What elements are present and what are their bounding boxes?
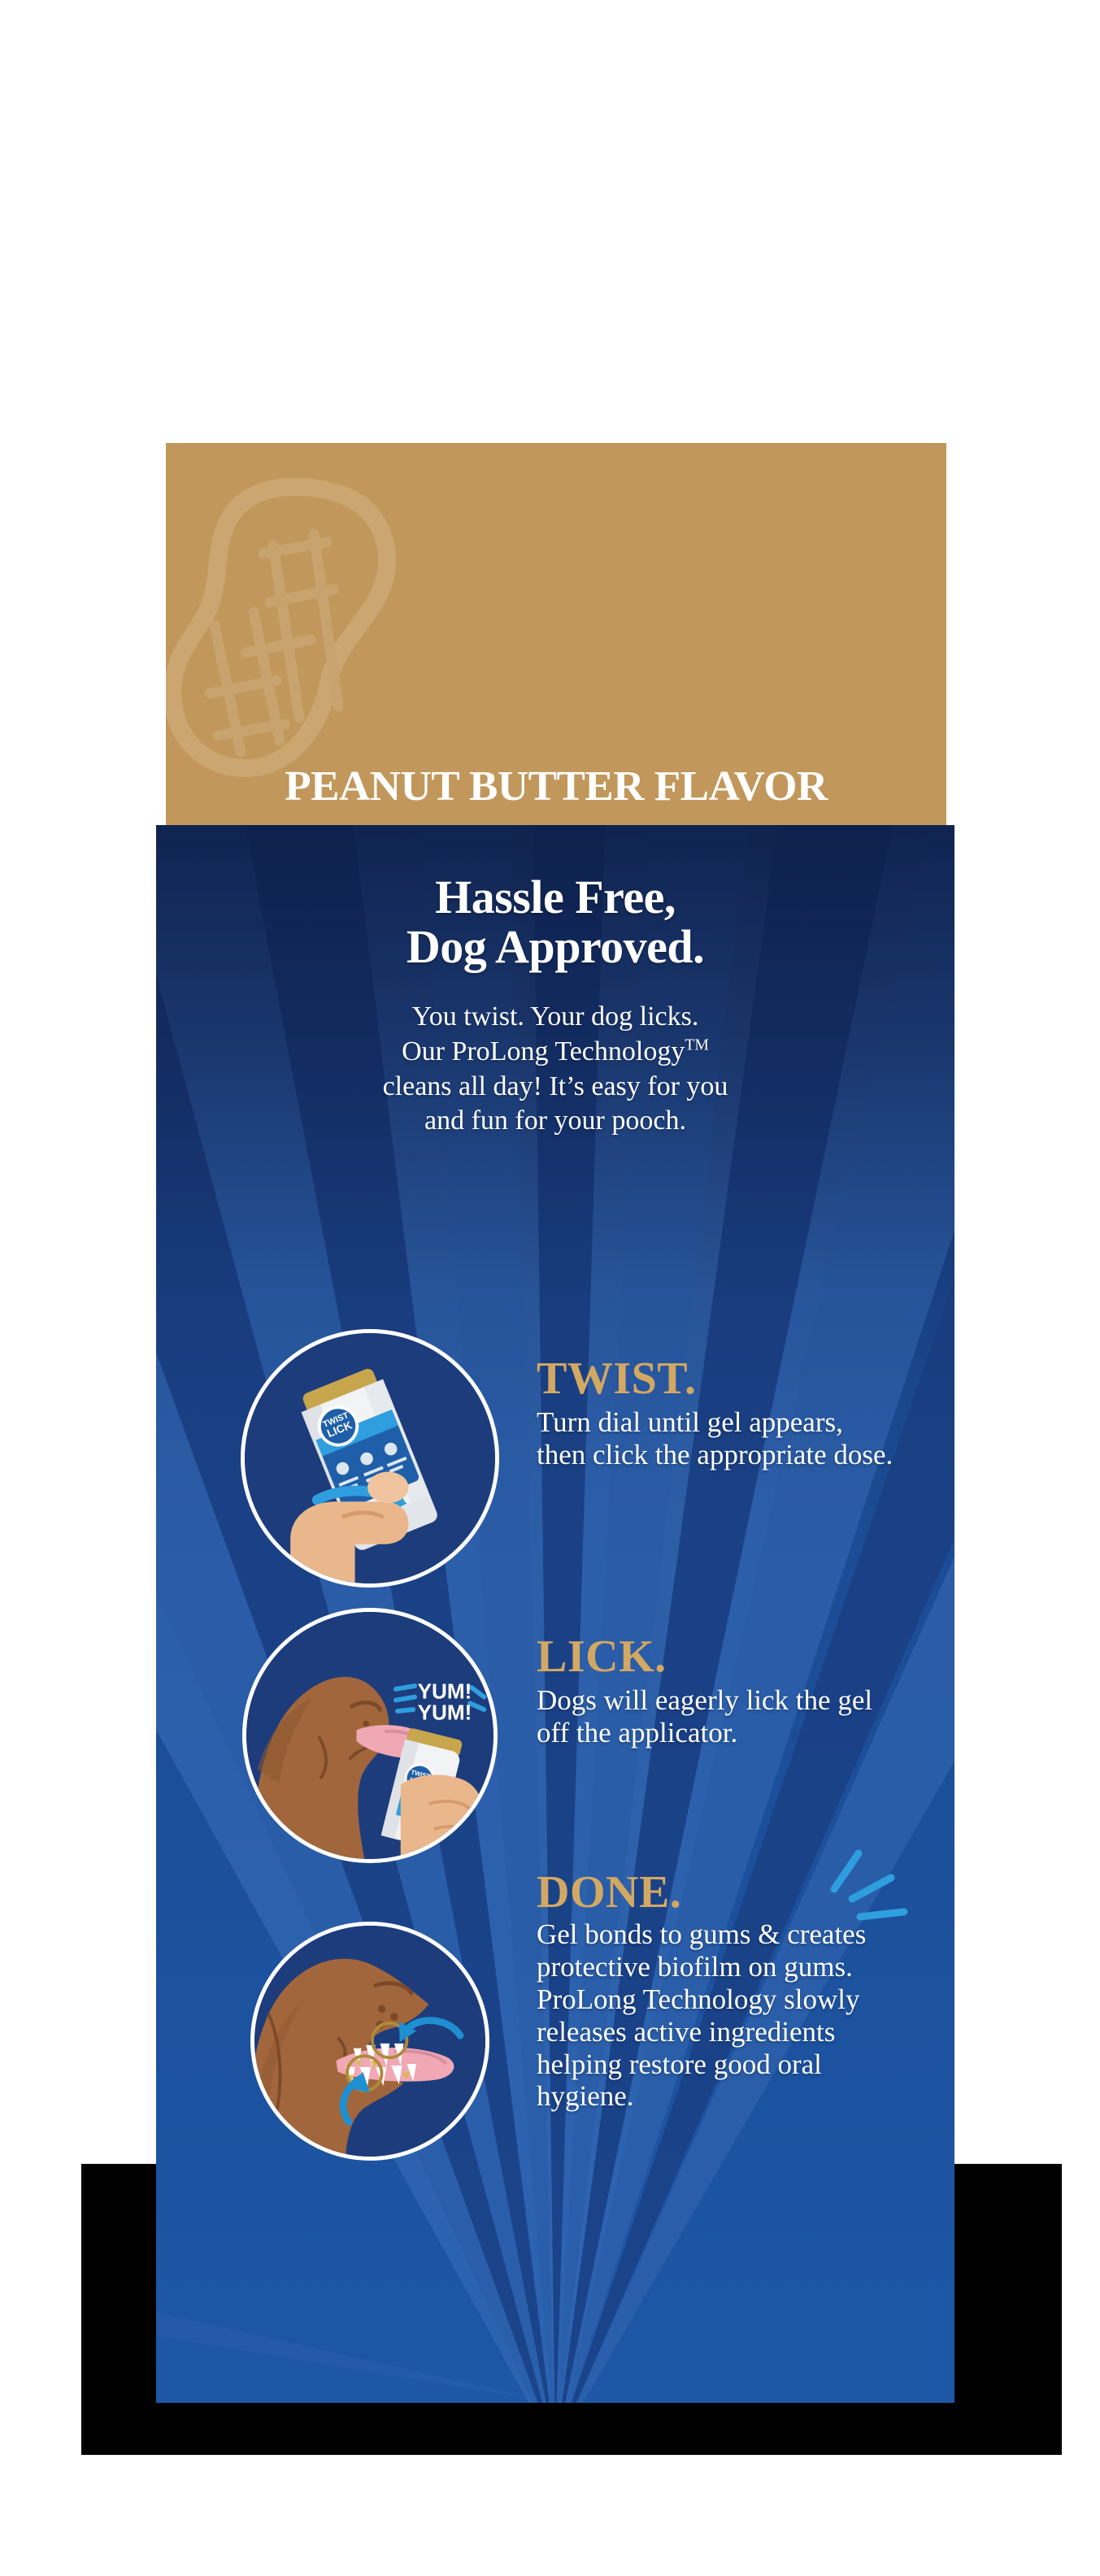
flavor-header-banner: PEANUT BUTTER FLAVOR [166,443,946,827]
peanut-shell-icon [166,450,423,807]
step-twist-text: TWIST. Turn dial until gel appears, then… [537,1356,894,1471]
headline-line-1: Hassle Free, [156,872,954,922]
step-lick-text: LICK. Dogs will eagerly lick the gel off… [537,1634,894,1749]
panel-content: Hassle Free, Dog Approved. You twist. Yo… [156,825,954,2403]
flavor-banner-title: PEANUT BUTTER FLAVOR [166,762,946,810]
subhead-line-3: cleans all day! It’s easy for you [156,1070,954,1105]
subhead-line-2: Our ProLong TechnologyTM [156,1035,954,1070]
step-done-illustration [250,1922,489,2161]
step-twist-kicker: TWIST. [537,1356,894,1401]
instruction-panel: Hassle Free, Dog Approved. You twist. Yo… [156,825,954,2403]
step-done-text: DONE. Gel bonds to gums & creates protec… [537,1870,902,2113]
step-twist-illustration: TWIST LICK [241,1329,499,1588]
headline-line-2: Dog Approved. [156,922,954,971]
subhead-line-2-text: Our ProLong Technology [402,1036,685,1066]
step-twist-body: Turn dial until gel appears, then click … [537,1406,894,1471]
panel-headline: Hassle Free, Dog Approved. [156,872,954,972]
subhead-line-1: You twist. Your dog licks. [156,1000,954,1035]
step-lick-body: Dogs will eagerly lick the gel off the a… [537,1684,894,1749]
yum-line-2: YUM! [418,1701,472,1725]
step-done-kicker: DONE. [537,1870,902,1915]
product-package-render: PEANUT BUTTER FLAVOR [0,0,1100,2576]
step-done-body: Gel bonds to gums & creates protective b… [537,1918,902,2113]
trademark-symbol: TM [685,1036,709,1054]
step-lick-illustration: TWIST LICK YUM! YUM! [242,1608,498,1863]
subhead-line-4: and fun for your pooch. [156,1104,954,1139]
panel-subhead: You twist. Your dog licks. Our ProLong T… [156,1000,954,1139]
step-lick-kicker: LICK. [537,1634,894,1679]
